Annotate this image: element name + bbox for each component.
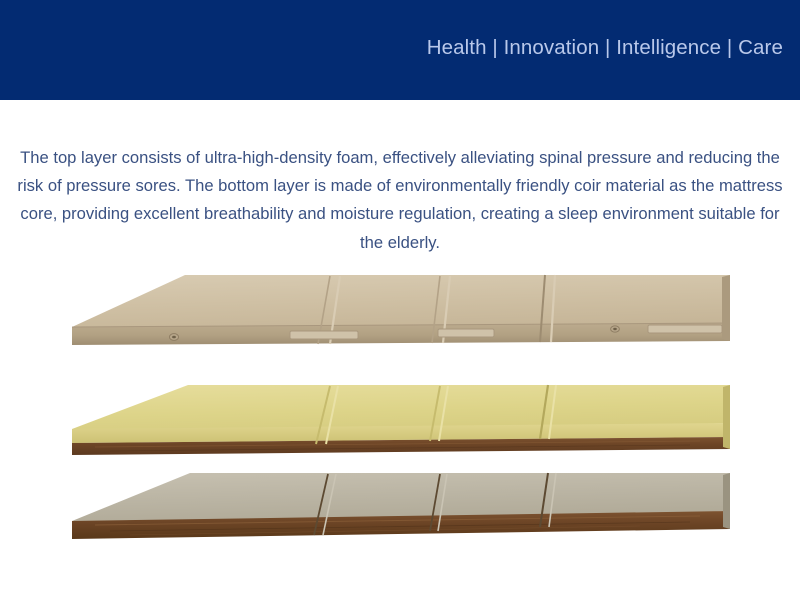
cover-front-edge [72,323,730,345]
coir-layer-illustration: Coir mattress core board [0,455,800,545]
header-band: Health | Innovation | Intelligence | Car… [0,0,800,100]
cover-right-edge [722,275,730,341]
mattress-layers-figure: Quilted fabric cover layer [0,255,800,555]
foam-right-edge [723,385,730,449]
foam-layer-illustration: Ultra-high-density foam over coir base [0,367,800,457]
mattress-layer-coir: Coir mattress core board [0,455,800,545]
description-paragraph: The top layer consists of ultra-high-den… [16,144,784,258]
mattress-layer-cover: Quilted fabric cover layer [0,255,800,355]
mattress-layer-foam: Ultra-high-density foam over coir base [0,367,800,457]
cover-layer-illustration: Quilted fabric cover layer [0,255,800,355]
coir-right-edge [723,473,730,529]
header-tagline: Health | Innovation | Intelligence | Car… [427,36,783,60]
